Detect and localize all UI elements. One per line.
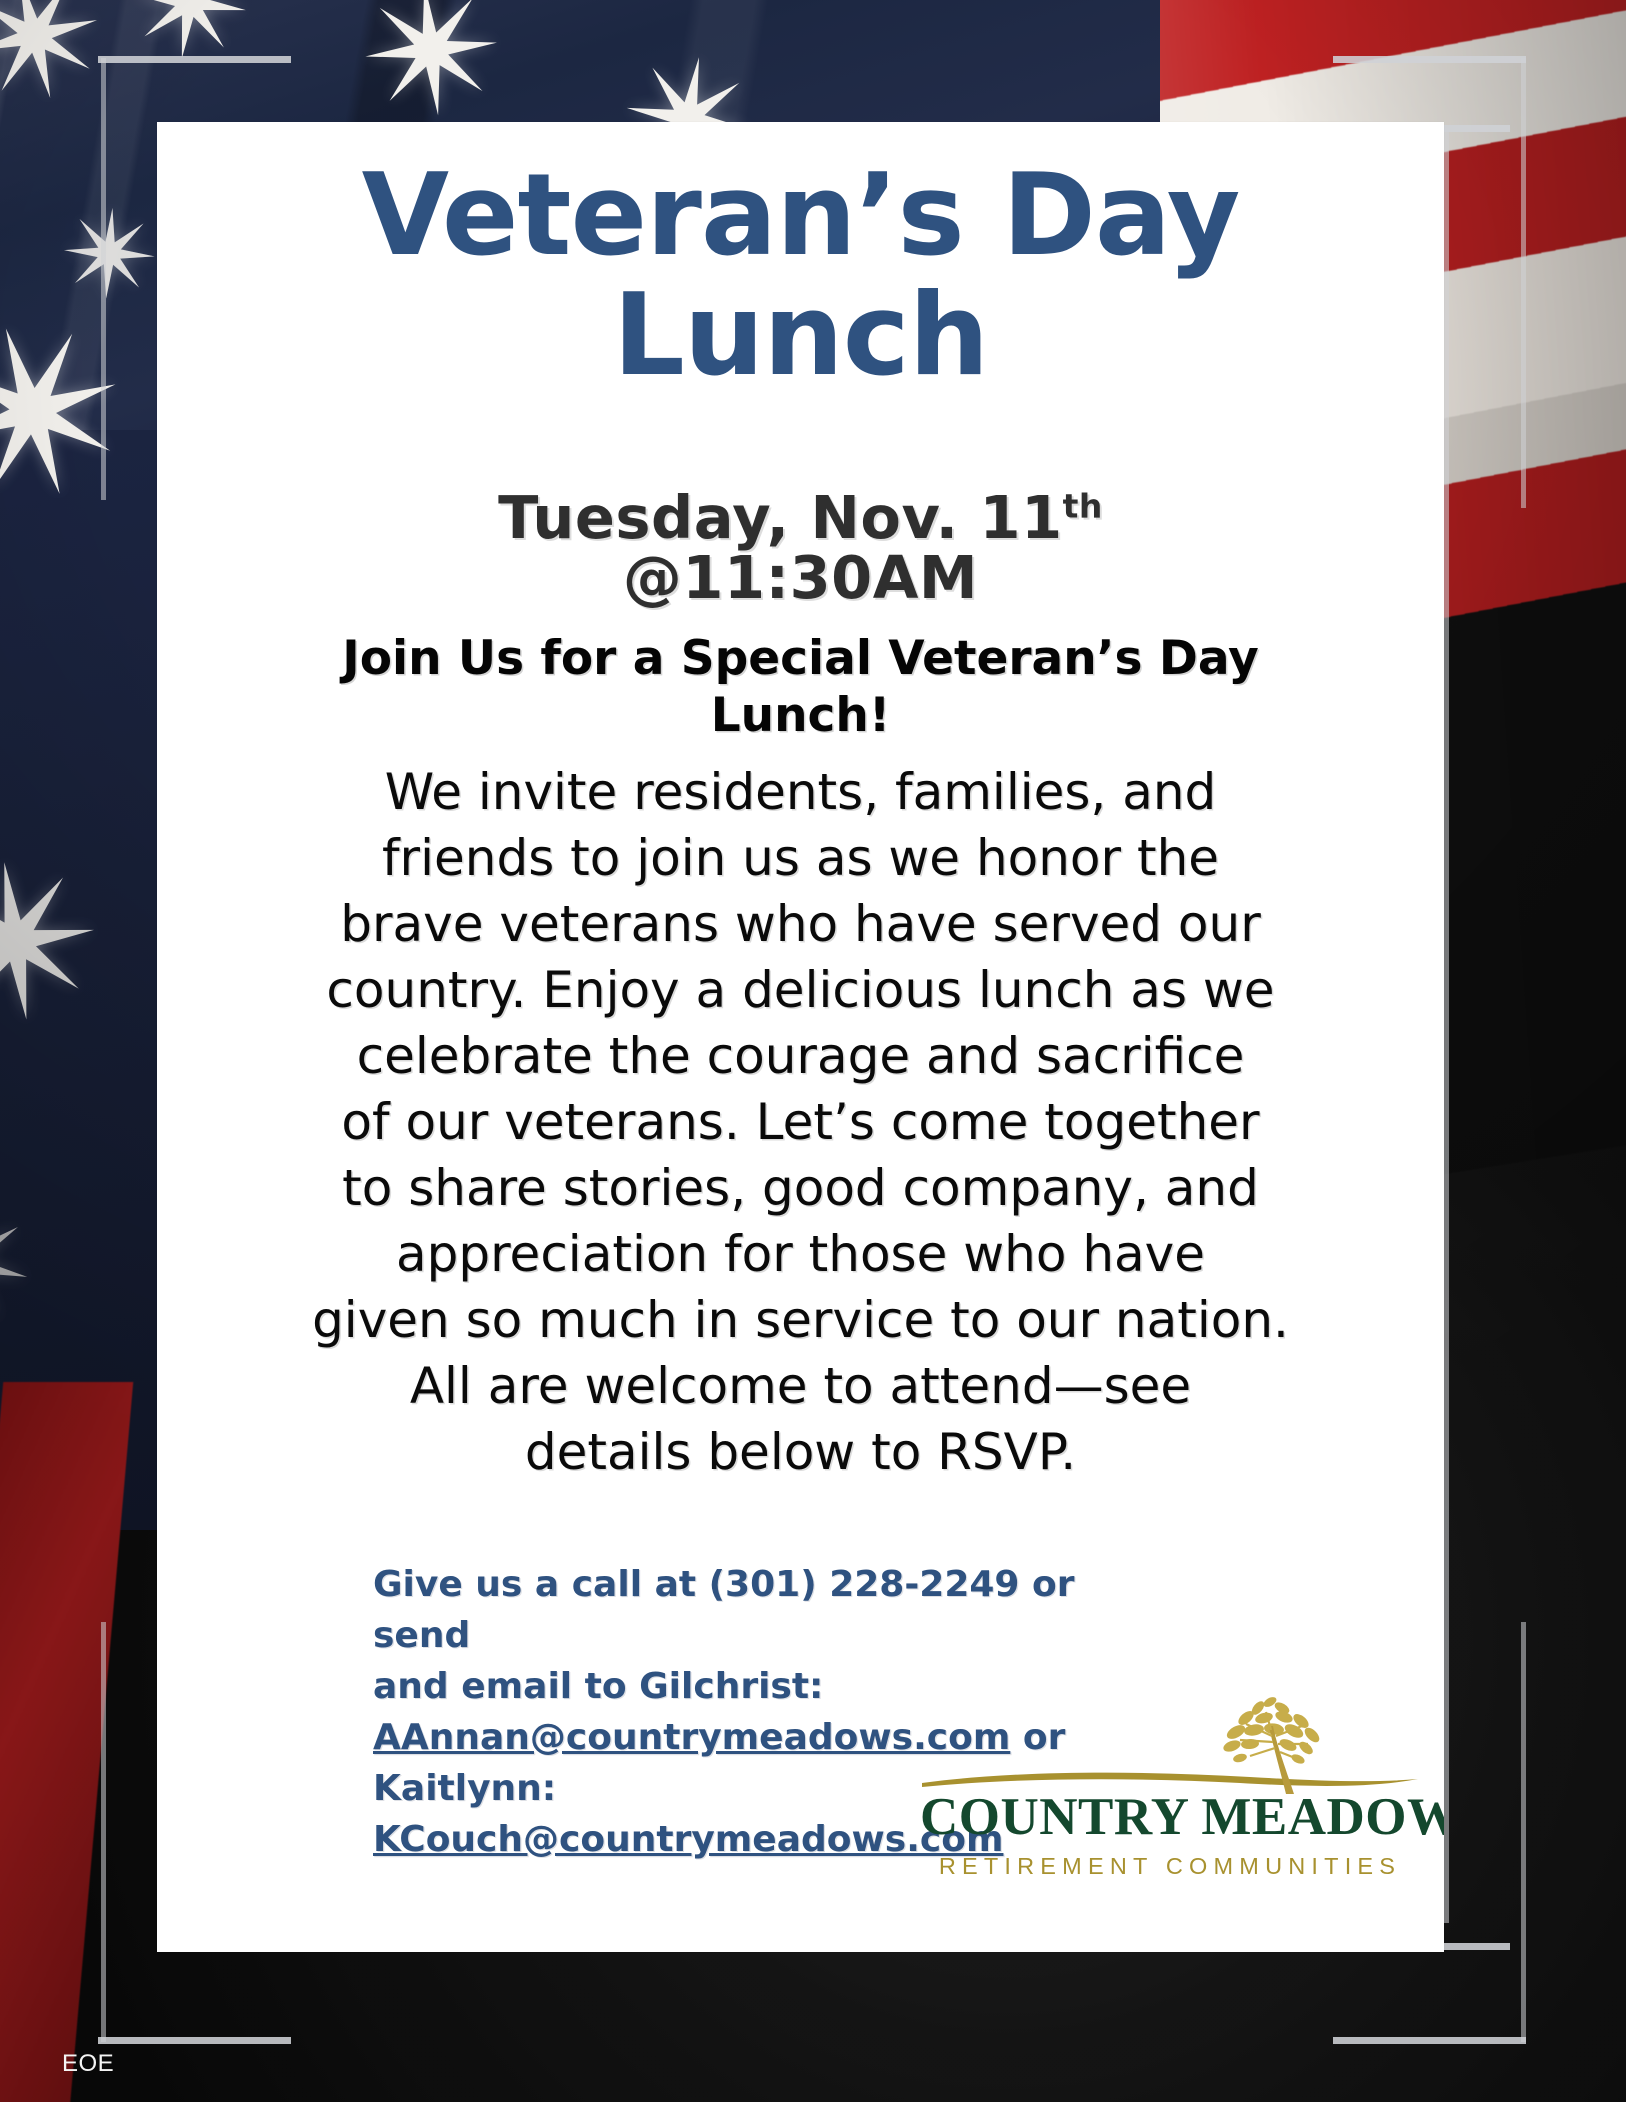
- description-line: brave veterans who have served our: [183, 891, 1419, 957]
- contact-name-kaitlynn: Kaitlynn:: [373, 1768, 556, 1809]
- description-line: appreciation for those who have: [183, 1221, 1419, 1287]
- subheading-line: Join Us for a Special Veteran’s Day: [208, 630, 1392, 687]
- description-line: details below to RSVP.: [183, 1419, 1419, 1485]
- page-title: Veteran’s Day Lunch: [157, 122, 1444, 396]
- email-conjunction: or: [1010, 1717, 1065, 1758]
- event-date-text: Tuesday, Nov. 11: [498, 483, 1063, 552]
- email-link-kcouch[interactable]: KCouch@countrymeadows.com: [373, 1819, 1003, 1860]
- description-line: celebrate the courage and sacrifice: [183, 1023, 1419, 1089]
- description-line: of our veterans. Let’s come together: [183, 1089, 1419, 1155]
- logo-brand-name: COUNTRY MEADOWS: [920, 1790, 1420, 1844]
- description-line: All are welcome to attend—see: [183, 1353, 1419, 1419]
- logo-tagline: RETIREMENT COMMUNITIES: [920, 1853, 1420, 1880]
- content-card: Veteran’s Day Lunch Tuesday, Nov. 11th @…: [157, 122, 1444, 1952]
- event-date-time: Tuesday, Nov. 11th @11:30AM: [157, 488, 1444, 608]
- description-line: We invite residents, families, and: [183, 759, 1419, 825]
- event-description: We invite residents, families, and frien…: [183, 759, 1419, 1485]
- event-date-line: Tuesday, Nov. 11th: [157, 488, 1444, 548]
- contact-phone-line: Give us a call at (301) 228-2249 or send: [373, 1559, 1133, 1661]
- contact-email-intro-line: and email to Gilchrist:: [373, 1661, 1133, 1712]
- country-meadows-logo: COUNTRY MEADOWS RETIREMENT COMMUNITIES: [920, 1766, 1420, 1880]
- date-ordinal-suffix: th: [1063, 486, 1103, 525]
- event-time-text: @11:30AM: [157, 548, 1444, 608]
- veterans-day-lunch-flyer: ✴ ✴ ✴ ✴ ✴ ✴ ✴ ✴ Veteran’s Day Lunch Tues…: [0, 0, 1626, 2102]
- event-subheading: Join Us for a Special Veteran’s Day Lunc…: [208, 630, 1392, 745]
- description-line: to share stories, good company, and: [183, 1155, 1419, 1221]
- contact-email-row-1: AAnnan@countrymeadows.com or: [373, 1712, 1133, 1763]
- tree-icon: [1206, 1690, 1336, 1800]
- subheading-line: Lunch!: [208, 687, 1392, 744]
- description-line: friends to join us as we honor the: [183, 825, 1419, 891]
- eoe-footer-note: EOE: [62, 2050, 114, 2078]
- description-line: country. Enjoy a delicious lunch as we: [183, 957, 1419, 1023]
- email-link-aannan[interactable]: AAnnan@countrymeadows.com: [373, 1717, 1010, 1758]
- description-line: given so much in service to our nation.: [183, 1287, 1419, 1353]
